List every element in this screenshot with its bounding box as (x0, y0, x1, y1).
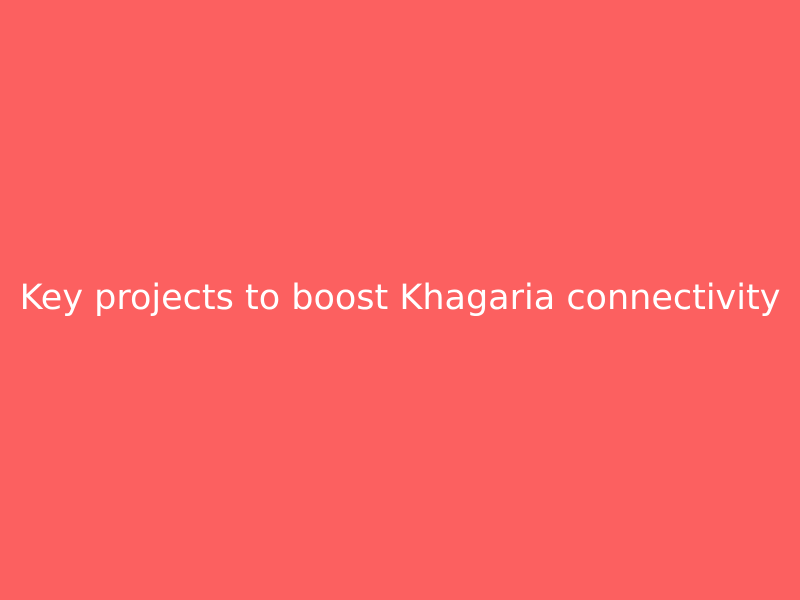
page-title: Key projects to boost Khagaria connectiv… (20, 277, 781, 321)
placeholder-card: Key projects to boost Khagaria connectiv… (0, 0, 800, 600)
